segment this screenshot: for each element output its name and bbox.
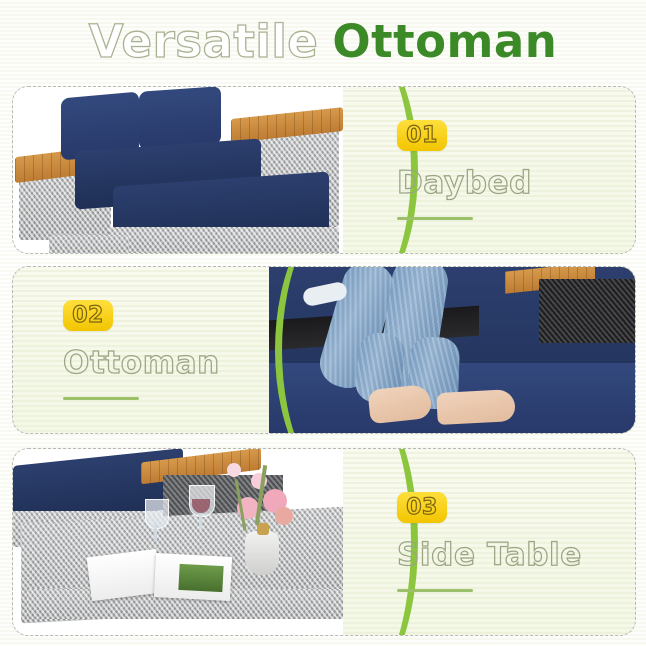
feature-panel-daybed: 01 Daybed	[12, 86, 636, 254]
step-badge-02: 02	[63, 300, 113, 331]
accent-rule	[397, 589, 473, 592]
panel-photo-daybed	[13, 87, 343, 253]
feature-panel-ottoman: 02 Ottoman	[12, 266, 636, 434]
page-header: Versatile Ottoman	[0, 0, 646, 82]
accent-rule	[397, 217, 473, 220]
accent-rule	[63, 397, 139, 400]
page-title-solid-word: Ottoman	[332, 19, 557, 64]
step-badge-03: 03	[397, 492, 447, 523]
feature-label-ottoman: Ottoman	[63, 348, 333, 379]
feature-label-daybed: Daybed	[397, 168, 635, 199]
feature-panel-side-table: 03 Side Table	[12, 448, 636, 636]
panel-text-daybed: 01 Daybed	[335, 87, 635, 253]
page-title-outlined-word: Versatile	[89, 19, 319, 64]
panel-photo-side-table	[13, 449, 343, 635]
panel-text-ottoman: 02 Ottoman	[13, 267, 333, 433]
panel-text-side-table: 03 Side Table	[335, 449, 635, 635]
feature-label-side-table: Side Table	[397, 540, 635, 571]
step-badge-01: 01	[397, 120, 447, 151]
